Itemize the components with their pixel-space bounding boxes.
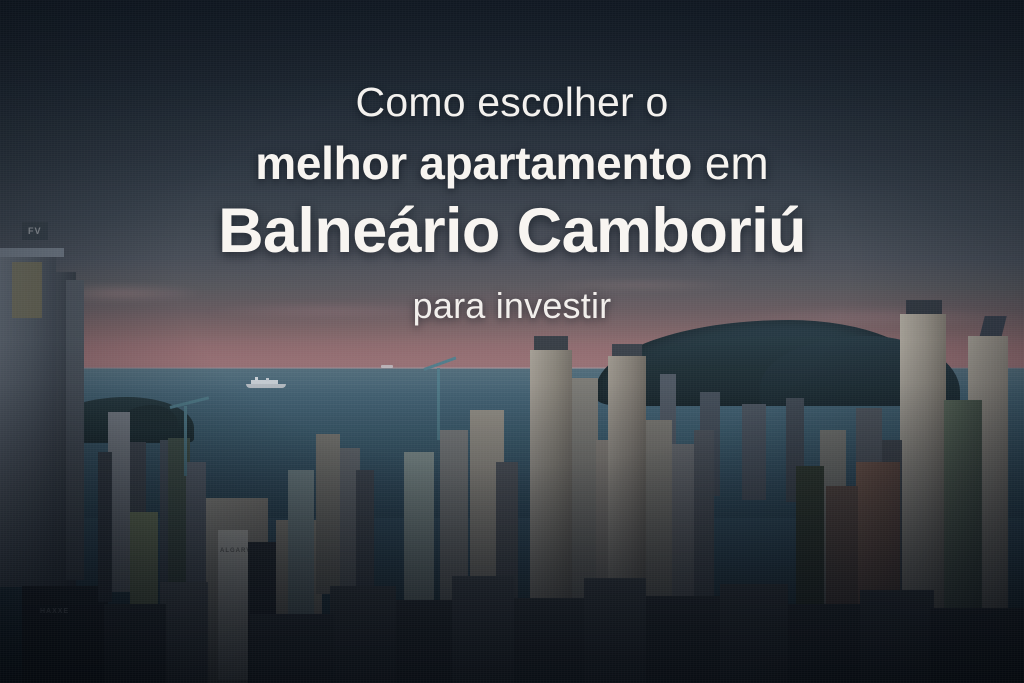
building-r-green — [944, 400, 982, 630]
roofblock-1 — [330, 586, 396, 683]
building-left-base — [22, 586, 108, 683]
tower-centre-cap — [534, 336, 568, 350]
headline-line-3-city: Balneário Camboriú — [218, 196, 806, 268]
construction-crane-centre-mast — [437, 368, 440, 440]
roofblock-6 — [646, 596, 720, 683]
roofblock-10 — [930, 608, 1024, 683]
tower-left-neighbour — [66, 280, 84, 580]
building-mid-low — [160, 582, 208, 683]
roofblock-5 — [584, 578, 646, 683]
headline-line-2-emphasis: melhor apartamento — [255, 137, 692, 189]
building-cl-1 — [316, 434, 340, 594]
building-left-base-sign: HAXXE — [40, 608, 69, 615]
hero-banner: FV HAXXE ALGARVE — [0, 0, 1024, 683]
tower-centre-main — [530, 350, 572, 600]
headline-line-1: Como escolher o — [356, 80, 669, 126]
building-ml-2 — [98, 452, 112, 602]
tower-right-cap — [906, 300, 942, 314]
headline-line-2: melhor apartamento em — [255, 136, 769, 190]
tower-left-facade-upper — [12, 262, 42, 318]
headline-line-4: para investir — [413, 284, 612, 327]
tower-cr-cap — [612, 344, 642, 356]
roofblock-12 — [250, 614, 334, 683]
building-cr-1 — [646, 420, 672, 610]
tower-right-main — [900, 314, 946, 614]
roofblock-9 — [860, 590, 934, 683]
construction-crane-left-jib — [170, 396, 210, 409]
tower-left-cap — [0, 248, 64, 257]
tower-right-crown — [979, 316, 1006, 338]
roofblock-8 — [788, 604, 860, 683]
roofblock-2 — [396, 600, 454, 683]
roofblock-4 — [514, 598, 584, 683]
headline-line-2-tail: em — [705, 137, 769, 189]
building-cr-3 — [694, 430, 714, 618]
tower-cr-main — [608, 356, 646, 606]
roofblock-7 — [720, 584, 788, 683]
roofblock-11 — [104, 604, 166, 683]
roofblock-3 — [452, 576, 514, 683]
tower-centre-sister — [572, 378, 598, 600]
building-far-3 — [742, 404, 766, 500]
construction-crane-left-mast — [184, 406, 187, 476]
tower-left-roof-sign: FV — [28, 226, 42, 236]
